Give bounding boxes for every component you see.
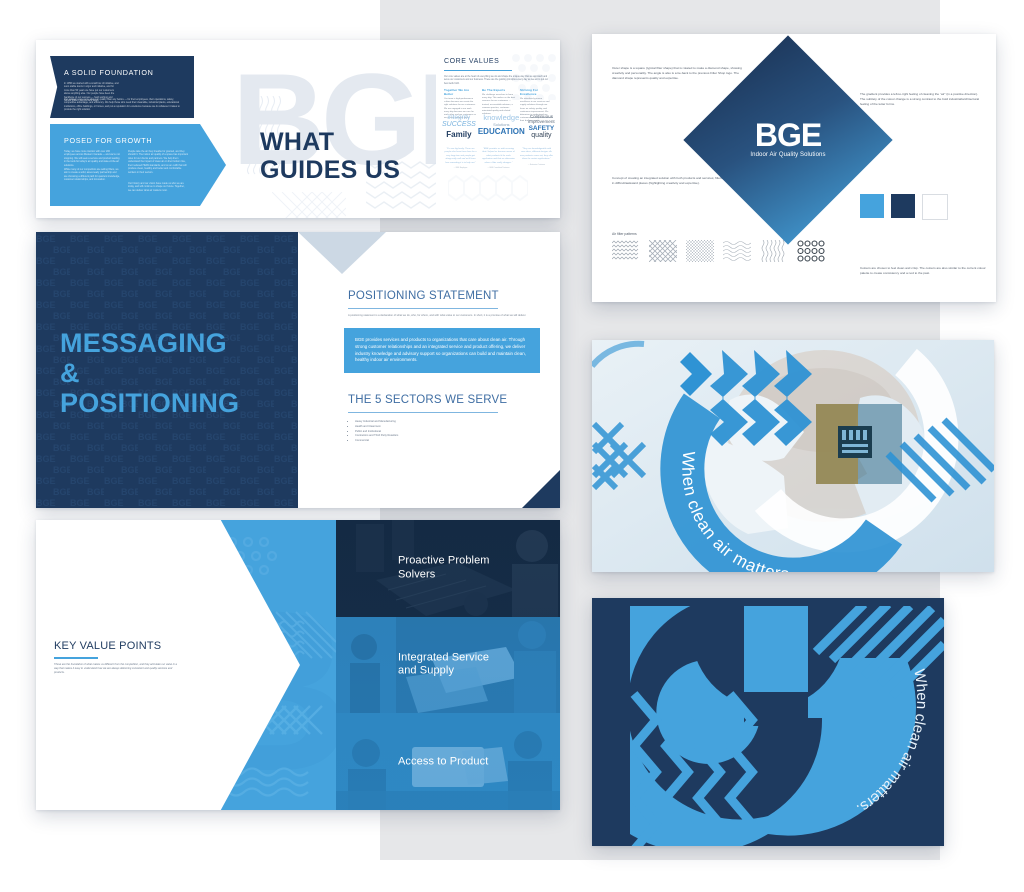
quote-text: “It's one big family. There are people w…	[445, 148, 477, 164]
word-education: EDUCATION	[478, 127, 525, 136]
navy-corner-accent-icon	[522, 470, 560, 508]
messaging-title-line1: MESSAGING	[60, 328, 239, 358]
air-filter-patterns-label: Air filter patterns	[612, 232, 637, 236]
guides-title-line1: WHAT	[260, 128, 400, 156]
guides-title-line2: GUIDES US	[260, 156, 400, 184]
colour-swatches	[860, 194, 948, 220]
solid-foundation-heading: A SOLID FOUNDATION	[64, 68, 154, 77]
posed-for-growth-panel: POSED FOR GROWTH Today, we have more tra…	[50, 124, 200, 206]
positioning-rule	[348, 308, 498, 309]
positioning-statement-box: BGE provides services and products to or…	[344, 328, 540, 373]
logo-wordmark: BGE	[737, 120, 839, 150]
word-cloud-group: Continuous improvement SAFETY quality	[527, 114, 556, 140]
fine-mesh-pattern-icon	[686, 240, 714, 262]
pleated-grid-pattern-icon	[797, 240, 825, 262]
kvp-band-label: Proactive Problem Solvers	[398, 555, 490, 582]
word-continuous-improvement: Continuous improvement	[527, 114, 556, 125]
core-value-quote: “BGE provides us with ensuring that I he…	[482, 148, 515, 170]
solid-foundation-para-2: Our advisory care more about air quality…	[64, 98, 182, 112]
quote-attribution: — BGE Employee	[444, 167, 477, 170]
sectors-rule	[348, 412, 498, 413]
slide-logo-rationale[interactable]: Outer shape is a square (typical filter …	[592, 34, 996, 302]
messaging-title-line2: &	[60, 358, 239, 388]
growth-para-2: While many of our competitors are sellin…	[64, 168, 120, 182]
positioning-subtext: A positioning statement is a declaration…	[348, 314, 532, 318]
core-values-intro: Our core values are at the heart of ever…	[444, 76, 552, 86]
note-gradient: The gradient provides a left-to-right fe…	[860, 92, 980, 106]
vertical-zigzag-pattern-icon	[760, 240, 788, 262]
kvp-bands: Proactive Problem Solvers Integrated Ser…	[336, 520, 560, 810]
messaging-title-panel: BGE BGE MESSAGING & POSITIONING	[36, 232, 298, 508]
core-value-title: Together We Are Better	[444, 88, 477, 96]
slide-what-guides-us[interactable]: BGE WHAT GUIDES US A SOLID FOUNDATION In	[36, 40, 560, 218]
posed-for-growth-heading: POSED FOR GROWTH	[64, 136, 152, 145]
slide-clean-air-photo[interactable]: When clean air matters. When clean air m…	[592, 340, 994, 572]
blue-arrow-tip-icon	[200, 124, 226, 206]
diamond-grid-pattern-icon	[649, 240, 677, 262]
messaging-title-line3: POSITIONING	[60, 388, 239, 418]
quote-attribution: — BGE Consultant/Customer	[482, 167, 515, 170]
quote-text: “They are knowledgeable with new ideas, …	[520, 148, 553, 160]
core-value-title: Striving For Excellence	[520, 88, 553, 96]
core-value-quote: “They are knowledgeable with new ideas, …	[520, 148, 553, 170]
kvp-band[interactable]: Proactive Problem Solvers	[336, 520, 560, 617]
cleanroom-photo: When clean air matters.	[592, 340, 994, 572]
swatch-navy	[891, 194, 915, 218]
zigzag-rows-pattern-icon	[612, 240, 640, 262]
kvp-band-label-text: Integrated Service and Supply	[398, 652, 489, 677]
kvp-band-label-text: Access to Product	[398, 755, 488, 767]
logo-tagline: Indoor Air Quality Solutions	[737, 152, 839, 158]
swatch-light-blue	[860, 194, 884, 218]
word-family: Family	[442, 130, 476, 139]
core-values-heading: CORE VALUES	[444, 58, 499, 65]
growth-para-3: People take the air they breathe for gra…	[128, 150, 188, 174]
word-cloud-group: integrity SUCCESS Family	[442, 114, 476, 140]
kvp-band-label: Access to Product	[398, 755, 488, 768]
kvp-band[interactable]: Integrated Service and Supply	[336, 617, 560, 714]
sectors-list: Heavy Industrial and Manufacturing Healt…	[348, 420, 398, 444]
air-filter-pattern-row	[612, 240, 825, 262]
kvp-band[interactable]: Access to Product	[336, 713, 560, 810]
slide-clean-air-dark[interactable]: When clean air matters. When clean air m…	[592, 598, 944, 846]
positioning-statement-heading: POSITIONING STATEMENT	[348, 290, 499, 302]
core-value-quote: “It's one big family. There are people w…	[444, 148, 477, 170]
kvp-subtext: These are the foundation of what makes u…	[54, 663, 182, 675]
wave-mesh-pattern-icon	[723, 240, 751, 262]
solid-foundation-panel: A SOLID FOUNDATION In 1956 we started wi…	[50, 56, 194, 118]
crosshatch-pattern-icon	[272, 192, 346, 218]
word-quality: quality	[527, 132, 556, 140]
slide-messaging-positioning[interactable]: BGE BGE MESSAGING & POSITIONING POSITION…	[36, 232, 560, 508]
word-success: SUCCESS	[442, 121, 476, 129]
swatch-white	[922, 194, 948, 220]
core-values-word-clouds: integrity SUCCESS Family knowledge Solut…	[442, 114, 556, 140]
word-integrity: integrity	[442, 114, 476, 121]
growth-para-4: Our history and our vision have made us …	[128, 182, 188, 192]
core-values-quotes: “It's one big family. There are people w…	[444, 148, 554, 170]
core-value-title: Be The Experts	[482, 88, 515, 92]
quote-text: “BGE provides us with ensuring that I he…	[482, 148, 515, 164]
word-safety: SAFETY	[527, 125, 556, 132]
kvp-band-label: Integrated Service and Supply	[398, 652, 489, 679]
guides-title: WHAT GUIDES US	[260, 128, 400, 184]
growth-para-1: Today, we have more traction with over 2…	[64, 150, 120, 167]
note-concept: Concept of creating an integrated soluti…	[612, 176, 728, 186]
hex-pattern-icon	[448, 172, 528, 212]
dark-graphic: When clean air matters.	[592, 598, 944, 846]
kvp-rule	[54, 657, 98, 659]
messaging-title: MESSAGING & POSITIONING	[60, 328, 239, 419]
sectors-heading: THE 5 SECTORS WE SERVE	[348, 394, 507, 406]
slide-key-value-points[interactable]: BG	[36, 520, 560, 810]
collage-stage: BGE WHAT GUIDES US A SOLID FOUNDATION In	[0, 0, 1024, 892]
kvp-band-label-text: Proactive Problem Solvers	[398, 555, 490, 580]
core-values-panel: CORE VALUES Our core values are at the h…	[436, 40, 560, 218]
word-cloud-group: knowledge Solutions EDUCATION	[478, 114, 525, 140]
core-values-rule	[444, 70, 512, 71]
quote-attribution: — Extensive Customer	[520, 164, 553, 167]
note-colours: Colours are chosen to feel clean and cri…	[860, 266, 986, 276]
sector-item: Commercial	[355, 439, 398, 444]
grey-triangle-accent-icon	[298, 232, 386, 274]
kvp-heading: KEY VALUE POINTS	[54, 640, 161, 652]
note-outer-shape: Outer shape is a square (typical filter …	[612, 66, 744, 80]
bge-logo: BGE Indoor Air Quality Solutions	[737, 120, 839, 158]
